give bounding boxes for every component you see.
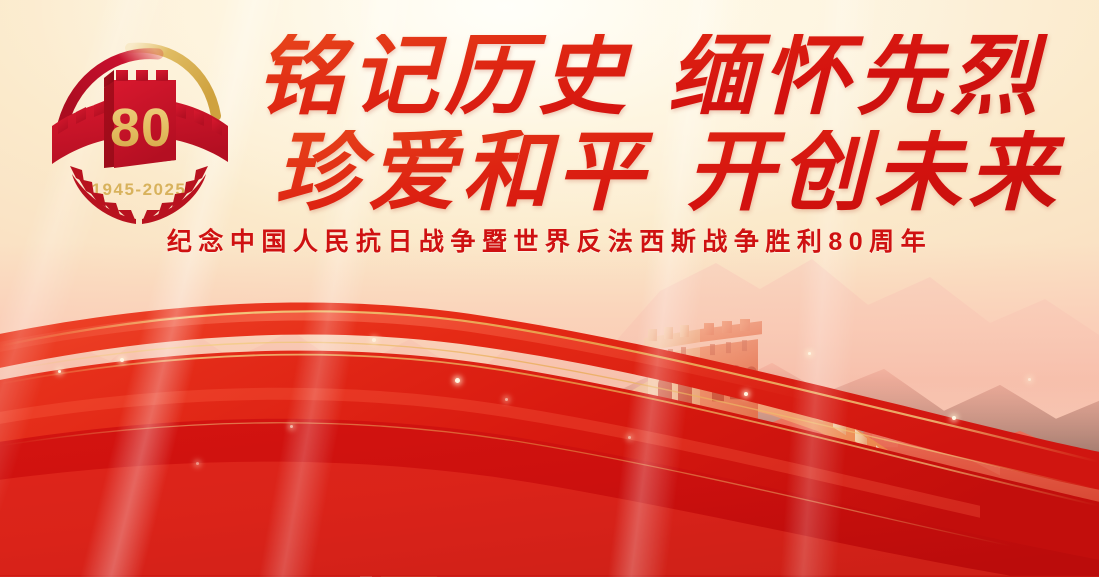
sparkle-dot: [58, 370, 61, 373]
sparkle-dot: [505, 398, 508, 401]
sparkle-dot: [628, 436, 631, 439]
headline-line-1: 铭记历史缅怀先烈: [248, 34, 1068, 122]
great-wall-watchtower: [0, 289, 1099, 577]
sparkle-dot: [196, 462, 199, 465]
headline-line-1-part-a: 铭记历史: [256, 29, 632, 126]
sparkle-dot: [372, 338, 376, 342]
sparkle-dot: [120, 358, 124, 362]
headline-line-2-part-b: 开创未来: [686, 125, 1062, 222]
svg-text:80: 80: [110, 98, 172, 158]
sparkle-dot: [744, 392, 748, 396]
headline-block: 铭记历史缅怀先烈 珍爱和平开创未来: [248, 34, 1068, 218]
headline-line-2: 珍爱和平开创未来: [248, 130, 1068, 218]
sparkle-dot: [808, 352, 811, 355]
sparkle-dot: [455, 378, 460, 383]
emblem-number: 80: [110, 98, 172, 158]
emblem-years: 1945-2025: [92, 180, 187, 199]
wall-right-segment: [756, 389, 962, 533]
distant-wall: [872, 407, 1000, 475]
headline-line-1-part-b: 缅怀先烈: [668, 29, 1044, 126]
headline-line-2-part-a: 珍爱和平: [274, 125, 650, 222]
far-mountain-layer: [0, 219, 1099, 577]
sparkle-dot: [1028, 378, 1031, 381]
wall-stairs: [360, 381, 648, 577]
red-silk-ribbon-waves: [0, 242, 1099, 577]
watchtower: [644, 319, 762, 493]
mid-mountain-layer: [0, 265, 1099, 577]
sparkle-dot: [952, 416, 956, 420]
near-mountain-layer: [0, 323, 1099, 577]
sparkle-dot: [290, 425, 293, 428]
commemorative-banner: 80 1945-2025: [0, 0, 1099, 577]
anniversary-emblem: 80 1945-2025: [36, 28, 242, 240]
banner-subtitle: 纪念中国人民抗日战争暨世界反法西斯战争胜利80周年: [0, 222, 1099, 258]
